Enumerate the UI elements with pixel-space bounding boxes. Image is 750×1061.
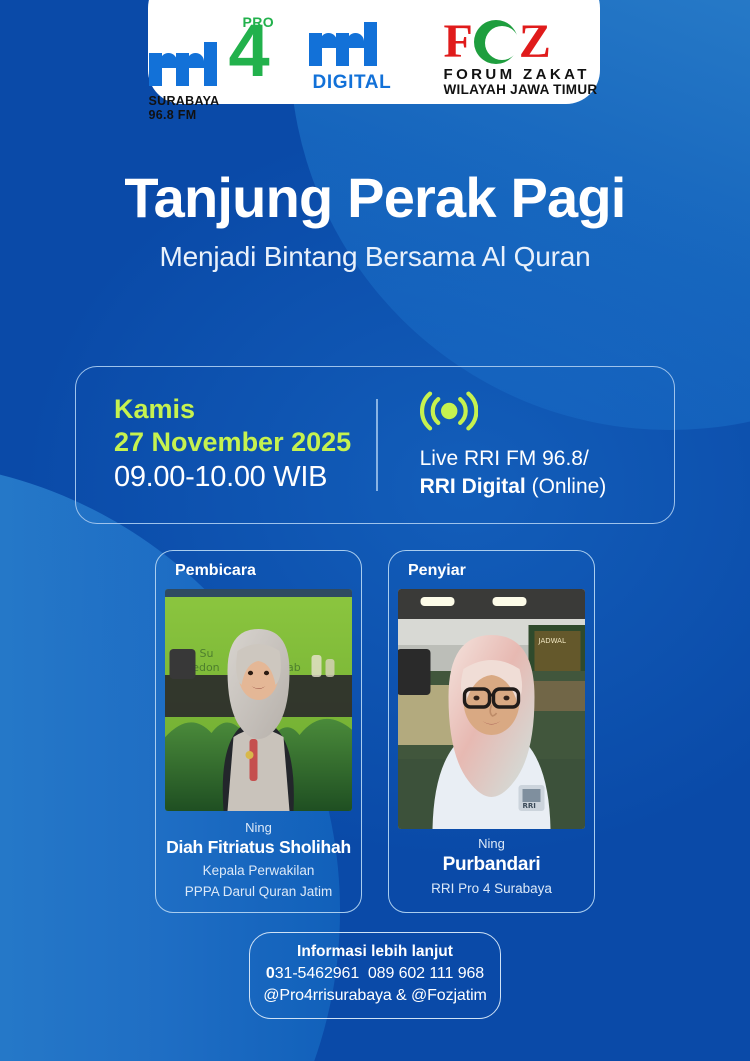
rri-caption: SURABAYA 96.8 FM: [149, 94, 220, 122]
channel-number: 4: [229, 22, 270, 80]
speaker-org-line1: Kepala Perwakilan: [165, 862, 352, 880]
speaker-org-line2: PPPA Darul Quran Jatim: [165, 883, 352, 901]
broadcast-suffix: (Online): [526, 475, 607, 498]
svg-text:JADWAL: JADWAL: [538, 637, 566, 645]
svg-text:Su: Su: [200, 647, 214, 660]
logo-rri-pro4: SURABAYA 96.8 FM PRO 4: [149, 18, 281, 96]
page-title: Tanjung Perak Pagi: [0, 168, 750, 227]
speaker-photo: Su Leedon Surab: [165, 589, 352, 811]
foz-wordmark-icon: F Z: [444, 18, 551, 66]
announcer-details: Ning Purbandari RRI Pro 4 Surabaya: [398, 829, 585, 898]
page-subtitle: Menjadi Bintang Bersama Al Quran: [0, 241, 750, 273]
pro4-number-block: PRO 4: [229, 18, 281, 96]
broadcast-info: Live RRI FM 96.8/ RRI Digital (Online): [378, 390, 674, 500]
broadcast-line-1: Live RRI FM 96.8/: [420, 445, 674, 473]
people-cards: Pembicara: [0, 550, 750, 913]
phone-prefix: 0: [266, 965, 275, 982]
announcer-prefix: Ning: [398, 836, 585, 852]
broadcast-poster: SURABAYA 96.8 FM PRO 4: [0, 0, 750, 1061]
phone-landline: 31-5462961: [275, 965, 359, 982]
foz-caption-line2: WILAYAH JAWA TIMUR: [444, 82, 598, 97]
speaker-photo-graphic: Su Leedon Surab: [165, 589, 352, 811]
panel-divider: [376, 399, 378, 491]
contact-box: Informasi lebih lanjut 031-5462961 089 6…: [249, 932, 501, 1019]
schedule-day: Kamis: [114, 393, 376, 426]
digital-caption: DIGITAL: [313, 72, 392, 94]
svg-text:RRI: RRI: [523, 802, 536, 810]
announcer-name: Purbandari: [398, 853, 585, 877]
announcer-org-line1: RRI Pro 4 Surabaya: [398, 880, 585, 898]
broadcast-line-2: RRI Digital (Online): [420, 473, 674, 501]
logo-bar: SURABAYA 96.8 FM PRO 4: [148, 0, 600, 104]
logo-row: SURABAYA 96.8 FM PRO 4: [139, 18, 610, 96]
hero-block: Tanjung Perak Pagi Menjadi Bintang Bersa…: [0, 168, 750, 273]
contact-title: Informasi lebih lanjut: [260, 942, 490, 963]
speaker-details: Ning Diah Fitriatus Sholihah Kepala Perw…: [165, 811, 352, 900]
schedule-datetime: Kamis 27 November 2025 09.00-10.00 WIB: [76, 393, 376, 497]
crescent-moon-icon: [474, 20, 518, 64]
card-role-label: Pembicara: [165, 560, 352, 589]
schedule-date: 27 November 2025: [114, 426, 376, 459]
announcer-photo-graphic: JADWAL: [398, 589, 585, 829]
contact-social: @Pro4rrisurabaya & @Fozjatim: [260, 985, 490, 1007]
logo-rri-digital: DIGITAL: [309, 18, 414, 96]
person-card-announcer: Penyiar: [388, 550, 595, 913]
person-card-speaker: Pembicara: [155, 550, 362, 913]
live-broadcast-icon: [420, 390, 478, 432]
phone-mobile: 089 602 111 968: [368, 965, 484, 982]
schedule-panel: Kamis 27 November 2025 09.00-10.00 WIB L…: [75, 366, 675, 524]
card-role-label: Penyiar: [398, 560, 585, 589]
foz-caption-line1: FORUM ZAKAT: [444, 66, 590, 83]
contact-phones: 031-5462961 089 602 111 968: [260, 963, 490, 985]
broadcast-channel: RRI Digital: [420, 475, 526, 498]
announcer-photo: JADWAL: [398, 589, 585, 829]
rri-wordmark-icon: SURABAYA 96.8 FM: [149, 44, 227, 96]
speaker-name: Diah Fitriatus Sholihah: [165, 837, 352, 859]
speaker-prefix: Ning: [165, 820, 352, 836]
logo-forum-zakat: F Z FORUM ZAKAT WILAYAH JAWA TIMUR: [440, 18, 600, 96]
rri-digital-wordmark-icon: [309, 24, 387, 76]
schedule-time: 09.00-10.00 WIB: [114, 459, 376, 497]
